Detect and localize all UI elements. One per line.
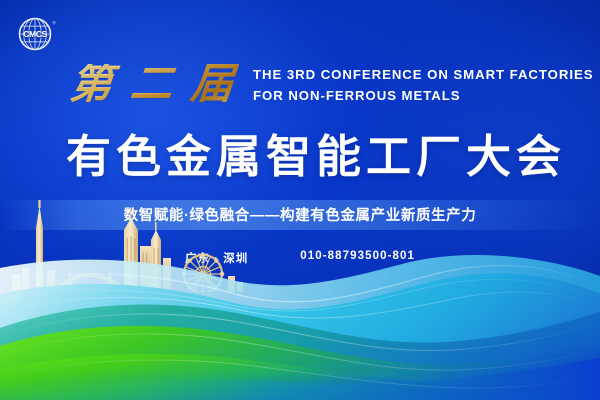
main-title: 有色金属智能工厂大会 <box>66 132 566 182</box>
headline-row: 第 二 届 THE 3RD CONFERENCE ON SMART FACTOR… <box>70 64 593 107</box>
flowing-wave-graphic <box>0 250 600 400</box>
english-line-2: FOR NON-FERROUS METALS <box>253 85 593 106</box>
logo-trademark-icon: ® <box>52 20 56 26</box>
english-line-1: THE 3RD CONFERENCE ON SMART FACTORIES <box>253 64 593 85</box>
logo-text: CMCS <box>23 29 47 39</box>
globe-logo-icon: CMCS ® <box>14 14 60 54</box>
conference-banner: CMCS ® 第 二 届 THE 3RD CONFERENCE ON SMART… <box>0 0 600 400</box>
ordinal-edition-gold: 第 二 届 <box>68 64 239 106</box>
english-subtitle: THE 3RD CONFERENCE ON SMART FACTORIES FO… <box>253 64 593 107</box>
